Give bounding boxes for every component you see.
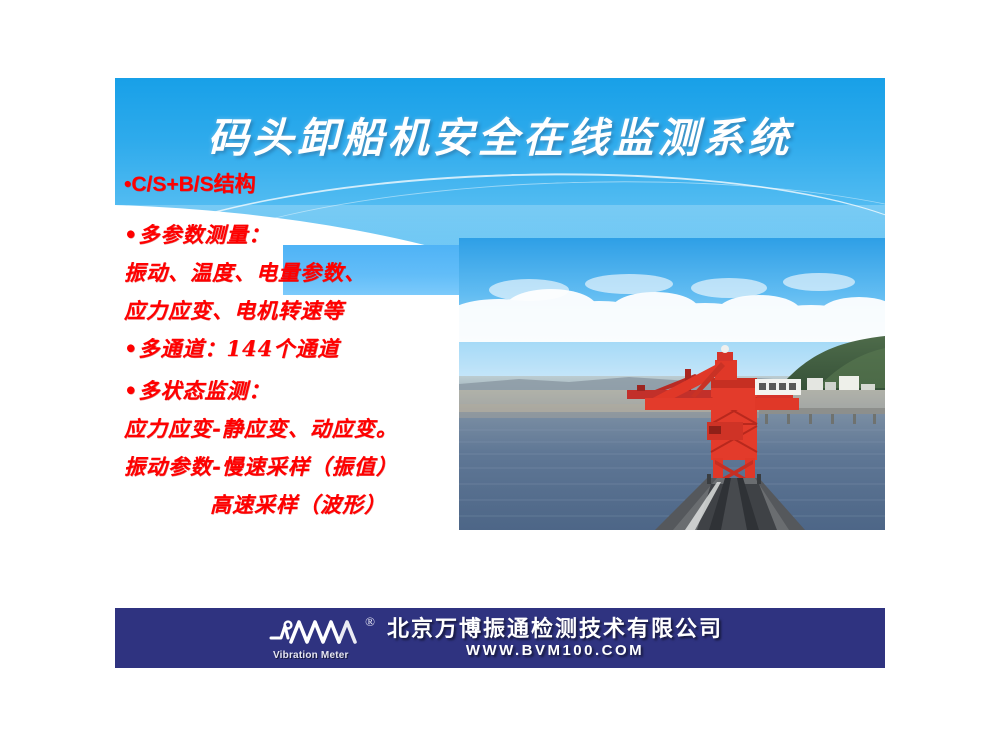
bullet-line: 振动、温度、电量参数、 <box>124 254 464 292</box>
crane-photo-illustration <box>459 238 885 530</box>
company-logo: ® Vibration Meter <box>269 616 373 660</box>
bullet-line: •多状态监测： <box>124 372 464 410</box>
page-title: 码头卸船机安全在线监测系统 <box>115 104 885 164</box>
bullet-line: 高速采样（波形） <box>124 486 464 524</box>
slide-canvas: 码头卸船机安全在线监测系统 •C/S+B/S结构 •多参数测量： 振动、温度、电… <box>0 0 1000 750</box>
company-name-cn: 北京万博振通检测技术有限公司 <box>387 618 723 641</box>
bullet-list: •C/S+B/S结构 •多参数测量： 振动、温度、电量参数、 应力应变、电机转速… <box>124 170 464 524</box>
footer-bar: ® Vibration Meter 北京万博振通检测技术有限公司 WWW.BVM… <box>115 608 885 668</box>
registered-trademark-icon: ® <box>365 614 375 630</box>
footer-content: ® Vibration Meter 北京万博振通检测技术有限公司 WWW.BVM… <box>269 616 723 660</box>
company-website: WWW.BVM100.COM <box>466 643 644 659</box>
bullet-line: 振动参数-慢速采样（振值） <box>124 448 464 486</box>
logo-caption: Vibration Meter <box>273 650 349 661</box>
bullet-line: •多参数测量： <box>124 216 464 254</box>
vibration-wave-icon <box>269 616 369 648</box>
bullet-line: 应力应变-静应变、动应变。 <box>124 410 464 448</box>
company-identity: 北京万博振通检测技术有限公司 WWW.BVM100.COM <box>387 618 723 659</box>
bullet-line: •多通道：144个通道 <box>124 330 464 368</box>
bullet-line: •C/S+B/S结构 <box>124 170 464 200</box>
bullet-line: 应力应变、电机转速等 <box>124 292 464 330</box>
crane-photo <box>459 238 885 530</box>
